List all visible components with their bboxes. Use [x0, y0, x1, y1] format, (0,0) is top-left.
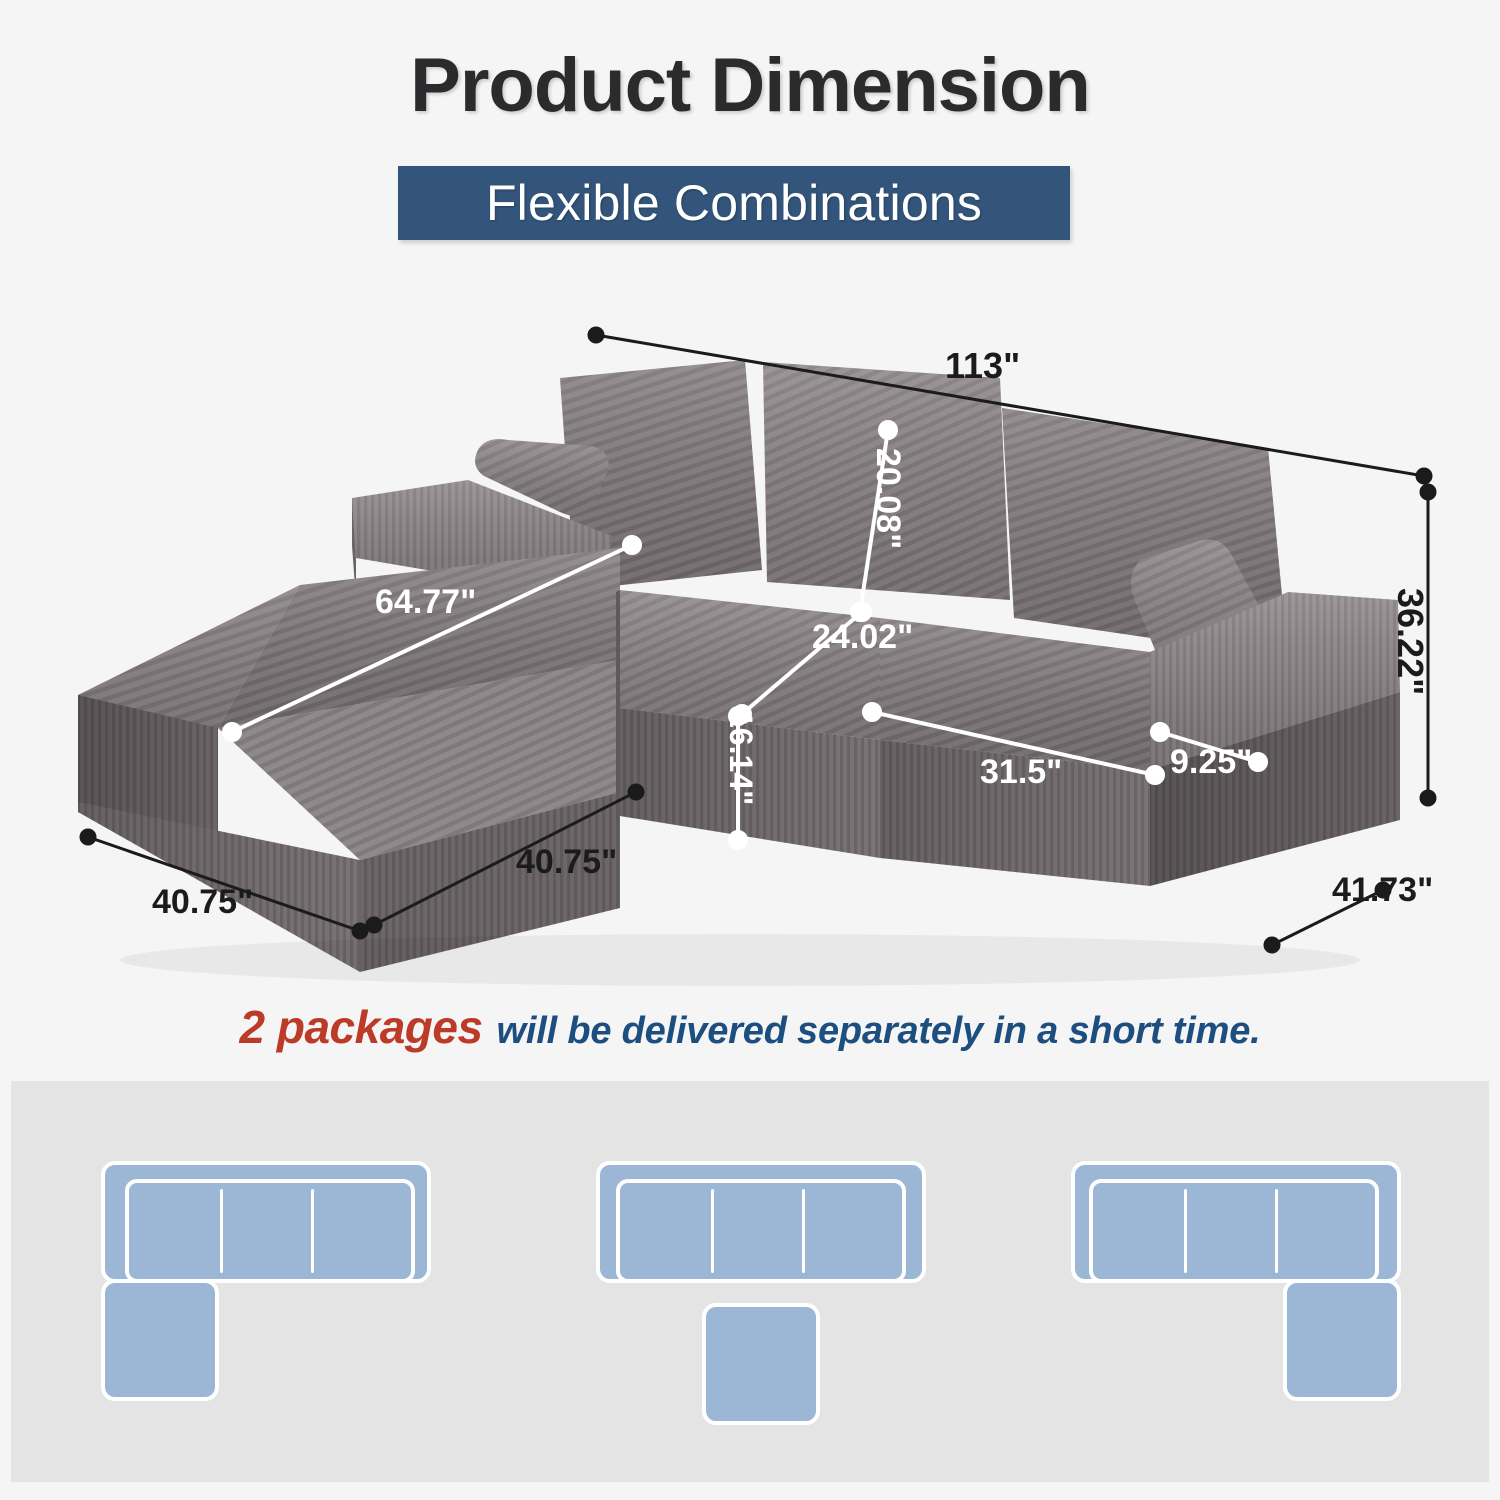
- dimension-label-sofa-depth: 41.73": [1332, 873, 1433, 907]
- subtitle-banner: Flexible Combinations: [398, 166, 1070, 240]
- subtitle-banner-label: Flexible Combinations: [486, 174, 982, 232]
- dimension-label-arm-width: 9.25": [1170, 745, 1252, 779]
- sofa-seat-outline: [125, 1179, 415, 1283]
- right-seat-module: [880, 618, 1150, 886]
- combination-layout-straight: [596, 1161, 946, 1411]
- shipping-note: 2 packageswill be delivered separately i…: [0, 1000, 1500, 1054]
- seat-divider-1: [711, 1189, 714, 1273]
- seat-divider-2: [1275, 1189, 1278, 1273]
- seat-divider-1: [220, 1189, 223, 1273]
- shipping-note-highlight: 2 packages: [239, 1001, 482, 1053]
- dimension-label-chaise-depth-front: 40.75": [152, 885, 253, 919]
- dimension-label-chaise-width: 40.75": [516, 845, 617, 879]
- chaise-ottoman-outline: [1283, 1279, 1401, 1401]
- combination-layouts-panel: [11, 1081, 1489, 1482]
- dimension-label-overall-height: 36.22": [1392, 588, 1428, 695]
- sofa-seat-outline: [616, 1179, 906, 1283]
- product-dimension-infographic: Product Dimension Flexible Combinations: [0, 0, 1500, 1500]
- combination-layout-left-chaise: [101, 1161, 451, 1411]
- shipping-note-text: will be delivered separately in a short …: [497, 1010, 1261, 1052]
- sofa-seat-outline: [1089, 1179, 1379, 1283]
- dimension-label-seat-width: 31.5": [980, 755, 1062, 789]
- dimension-label-overall-width: 113": [945, 348, 1020, 384]
- sofa-illustration: 113" 36.22" 64.77" 20.08" 24.02" 16.14" …: [0, 300, 1500, 990]
- dimension-label-seat-depth: 24.02": [812, 620, 913, 654]
- seat-divider-1: [1184, 1189, 1187, 1273]
- dimension-label-seat-height: 16.14": [725, 710, 757, 805]
- combination-layout-right-chaise: [1071, 1161, 1421, 1411]
- dimension-label-backrest-height: 20.08": [871, 448, 905, 549]
- seat-divider-2: [802, 1189, 805, 1273]
- chaise-ottoman-outline: [101, 1279, 219, 1401]
- seat-divider-2: [311, 1189, 314, 1273]
- chaise-ottoman-outline: [702, 1303, 820, 1425]
- dimension-label-chaise-length: 64.77": [375, 585, 476, 619]
- page-title: Product Dimension: [0, 46, 1500, 126]
